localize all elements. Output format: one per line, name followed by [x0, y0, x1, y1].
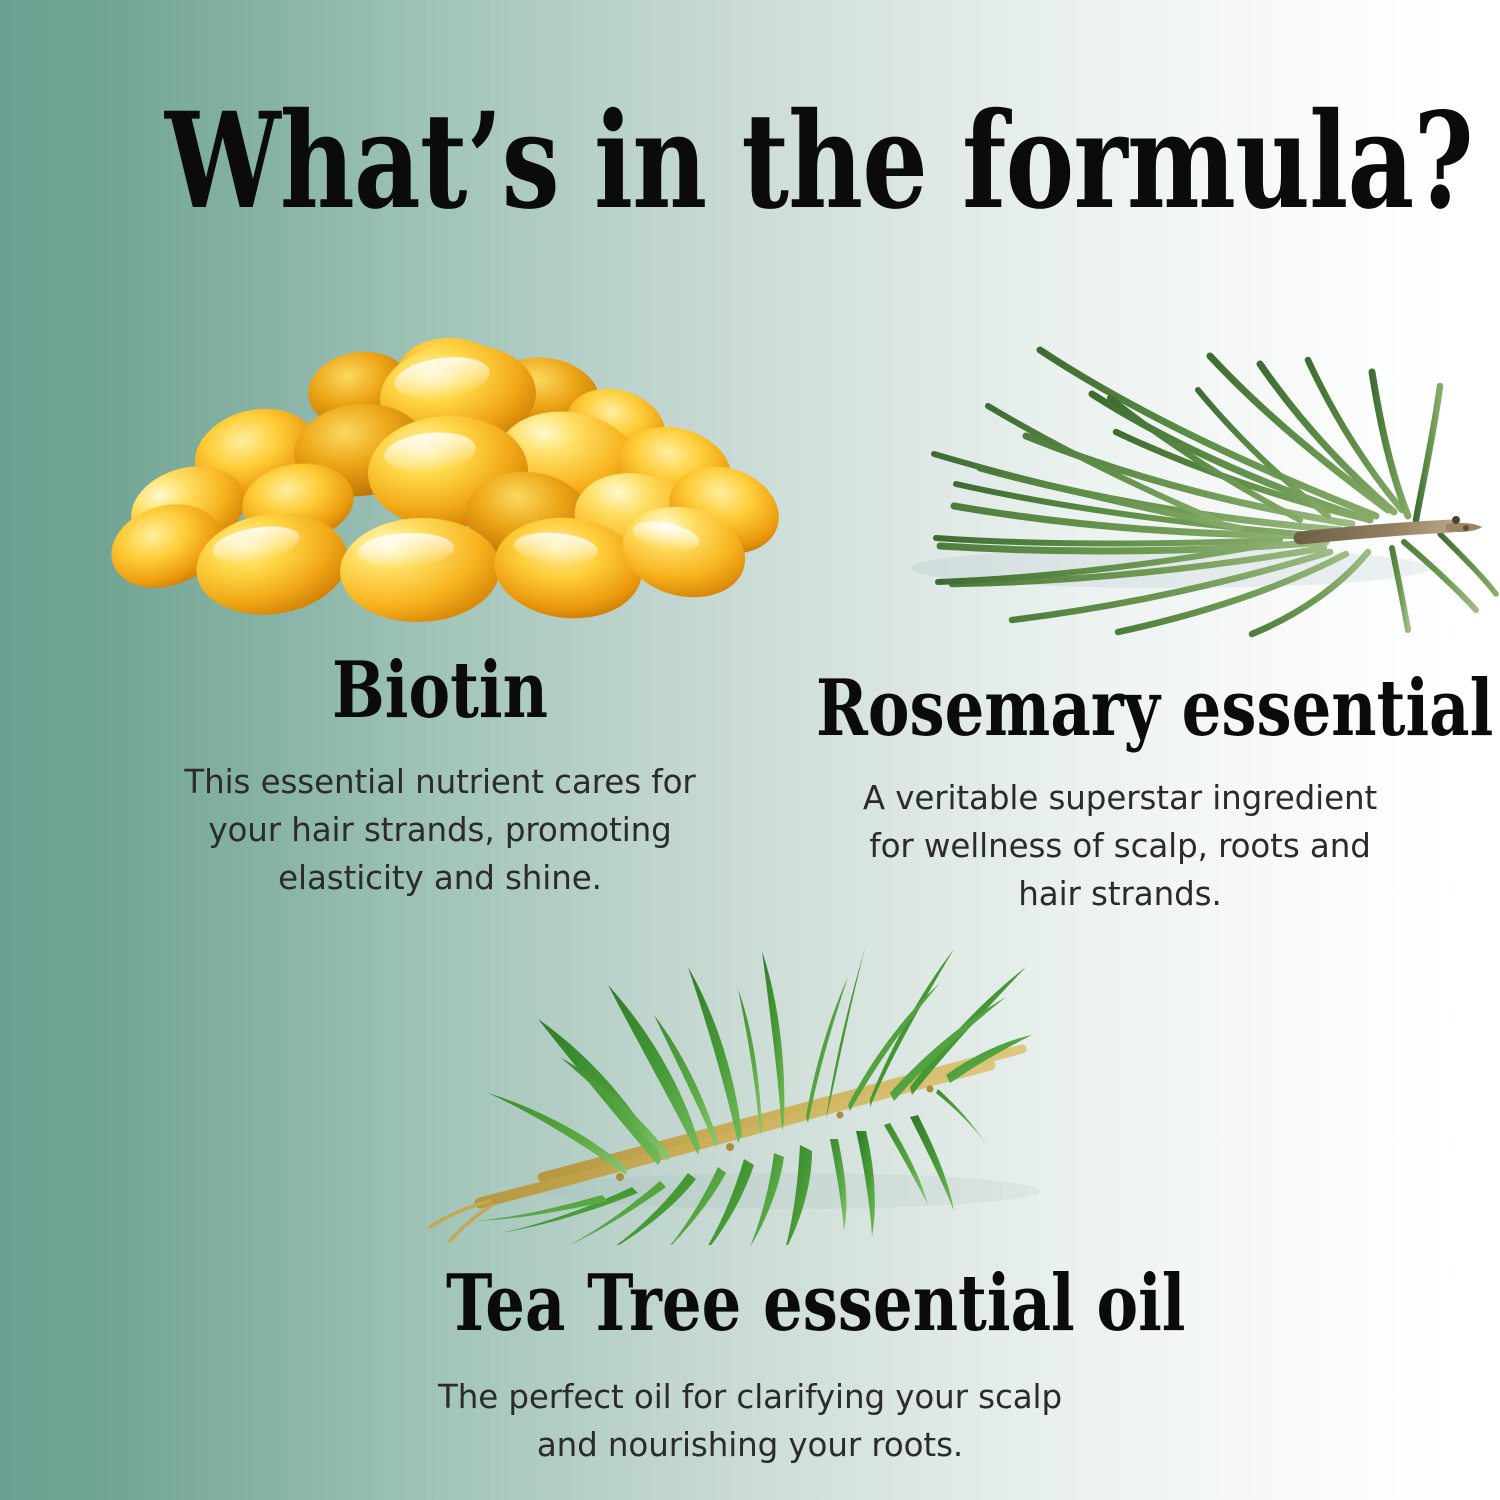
tea-tree-sprig-image: [370, 915, 1130, 1245]
ingredient-heading-biotin: Biotin: [136, 652, 744, 730]
description-line: This essential nutrient cares for: [122, 758, 758, 806]
description-line: hair strands.: [786, 870, 1454, 918]
description-line: A veritable superstar ingredient: [786, 774, 1454, 822]
ingredient-card-teatree: Tea Tree essential oil The perfect oil f…: [370, 915, 1130, 1469]
description-line: The perfect oil for clarifying your scal…: [400, 1373, 1100, 1421]
page-title: What’s in the formula?: [165, 96, 1335, 228]
ingredient-card-rosemary: Rosemary essential oil A veritable super…: [740, 320, 1500, 918]
description-line: your hair strands, promoting: [122, 806, 758, 854]
description-line: for wellness of scalp, roots and: [786, 822, 1454, 870]
description-line: and nourishing your roots.: [400, 1421, 1100, 1469]
capsule-pile: [100, 334, 790, 625]
tea-tree-leaves-upper: [538, 945, 1026, 1165]
ingredient-description-teatree: The perfect oil for clarifying your scal…: [370, 1373, 1130, 1469]
tea-tree-leaves-upper-second: [488, 977, 1032, 1175]
rosemary-needles: [934, 350, 1496, 634]
ingredient-infographic: What’s in the formula?: [0, 0, 1500, 1500]
description-line: elasticity and shine.: [122, 854, 758, 902]
ingredient-heading-rosemary: Rosemary essential oil: [816, 670, 1424, 748]
biotin-capsules-image: [60, 330, 820, 630]
ingredient-heading-teatree: Tea Tree essential oil: [446, 1265, 1054, 1343]
rosemary-sprig-image: [740, 320, 1500, 640]
ingredient-description-biotin: This essential nutrient cares for your h…: [60, 758, 820, 902]
ingredient-description-rosemary: A veritable superstar ingredient for wel…: [740, 774, 1500, 918]
ingredient-card-biotin: Biotin This essential nutrient cares for…: [60, 330, 820, 902]
